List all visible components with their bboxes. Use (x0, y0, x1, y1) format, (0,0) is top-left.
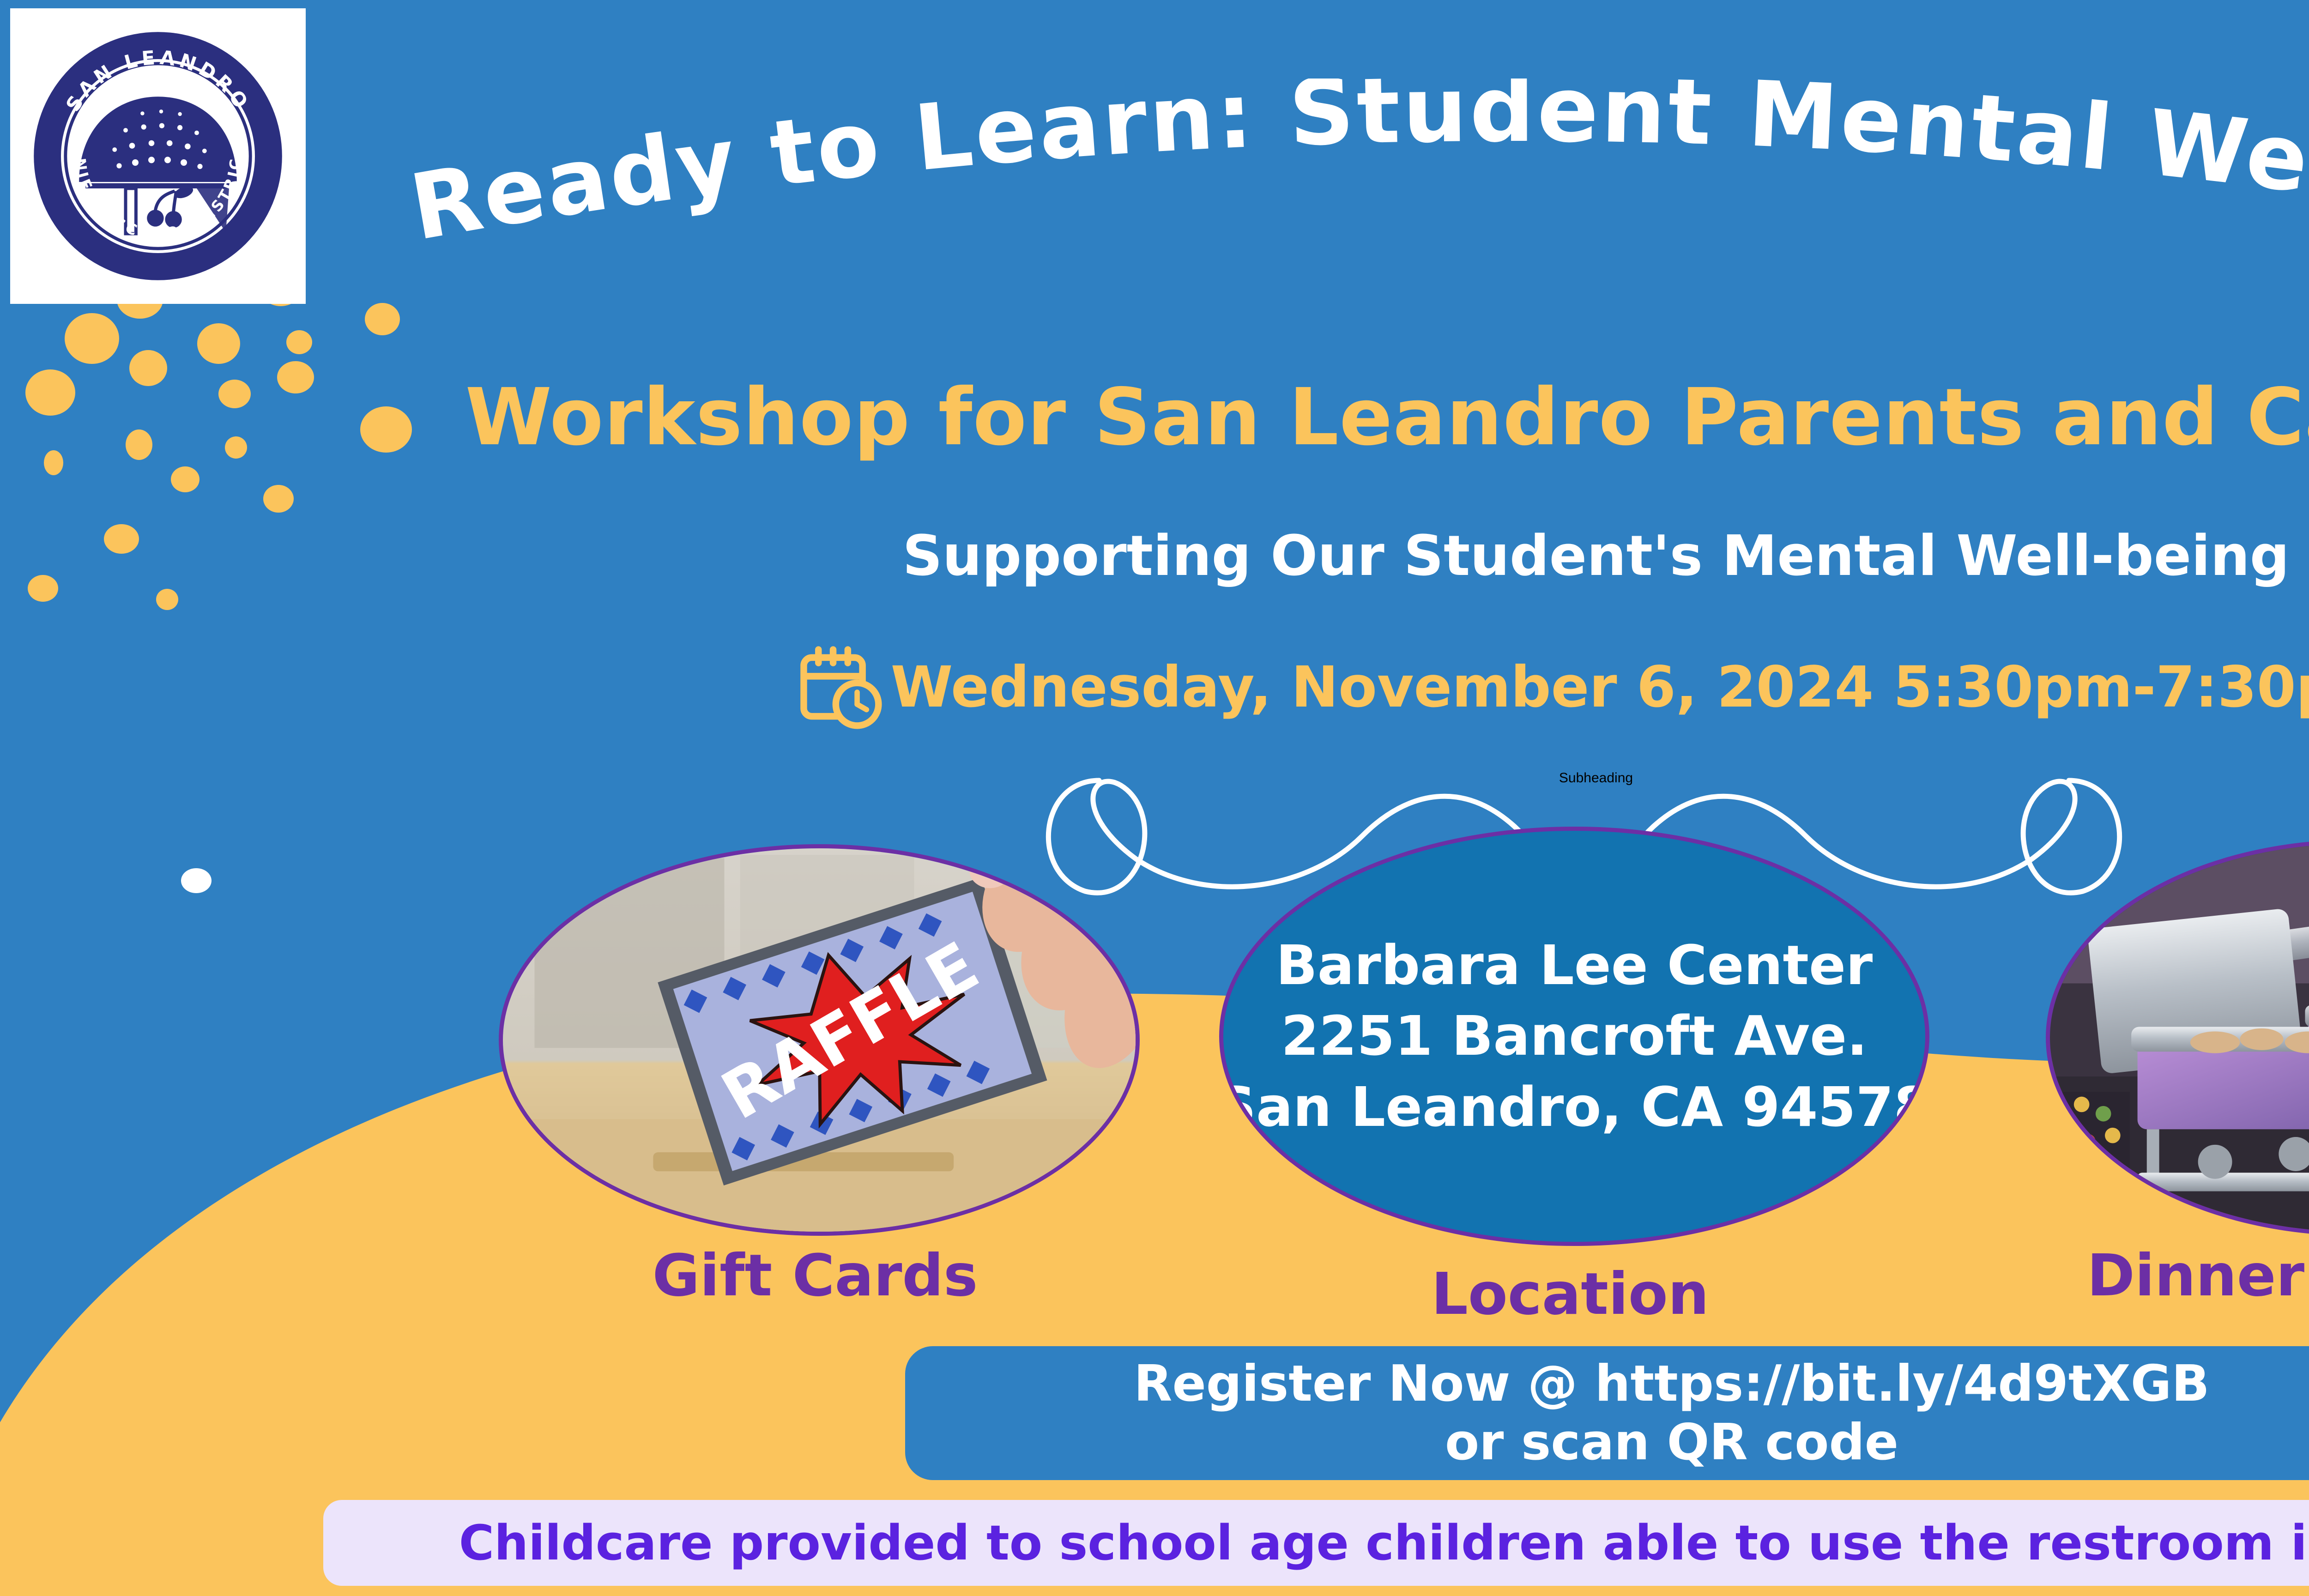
subtitle: Workshop for San Leandro Parents and Car… (0, 372, 2309, 463)
flyer-canvas: SAN LEANDRO UNIFIED SCHOOL DISTRICT BLAZ… (0, 0, 2309, 1596)
register-url-text[interactable]: Register Now @ https://bit.ly/4d9tXGB (1134, 1354, 2209, 1413)
event-datetime-text: Wednesday, November 6, 2024 5:30pm-7:30p… (891, 654, 2309, 720)
caption-location: Location (1219, 1261, 1921, 1328)
dot (171, 466, 199, 492)
dot (263, 485, 294, 513)
location-line-3: San Leandro, CA 94578 (1219, 1072, 1929, 1143)
dot-white (181, 868, 212, 893)
dot (286, 330, 312, 354)
dot (156, 589, 178, 610)
location-line-1: Barbara Lee Center (1276, 930, 1873, 1001)
location-line-2: 2251 Bancroft Ave. (1281, 1001, 1868, 1071)
gift-cards-photo: RAFFLE (499, 844, 1140, 1236)
raffle-ticket-image: RAFFLE (503, 848, 1136, 1232)
register-banner[interactable]: Register Now @ https://bit.ly/4d9tXGB or… (905, 1346, 2309, 1480)
calendar-clock-icon (797, 644, 882, 730)
register-scan-text: or scan QR code (1445, 1413, 1898, 1472)
caption-dinner: Dinner Provided (2046, 1242, 2309, 1309)
childcare-note-text: Childcare provided to school age childre… (459, 1515, 2309, 1571)
flourish-placeholder-text: Subheading (0, 770, 2309, 786)
dot (365, 303, 400, 335)
dot (197, 323, 240, 364)
location-card: Barbara Lee Center 2251 Bancroft Ave. Sa… (1219, 827, 1929, 1246)
dot (65, 313, 119, 364)
tagline: Supporting Our Student's Mental Well-bei… (0, 524, 2309, 588)
svg-text:Ready to Learn: Student Mental: Ready to Learn: Student Mental Wellness (403, 79, 2309, 261)
event-datetime-row: Wednesday, November 6, 2024 5:30pm-7:30p… (0, 644, 2309, 730)
caption-gift-cards: Gift Cards (499, 1242, 1131, 1309)
childcare-note-banner: Childcare provided to school age childre… (323, 1500, 2309, 1586)
page-title-text: Ready to Learn: Student Mental Wellness (403, 79, 2309, 261)
page-title: Ready to Learn: Student Mental Wellness (222, 79, 2309, 291)
